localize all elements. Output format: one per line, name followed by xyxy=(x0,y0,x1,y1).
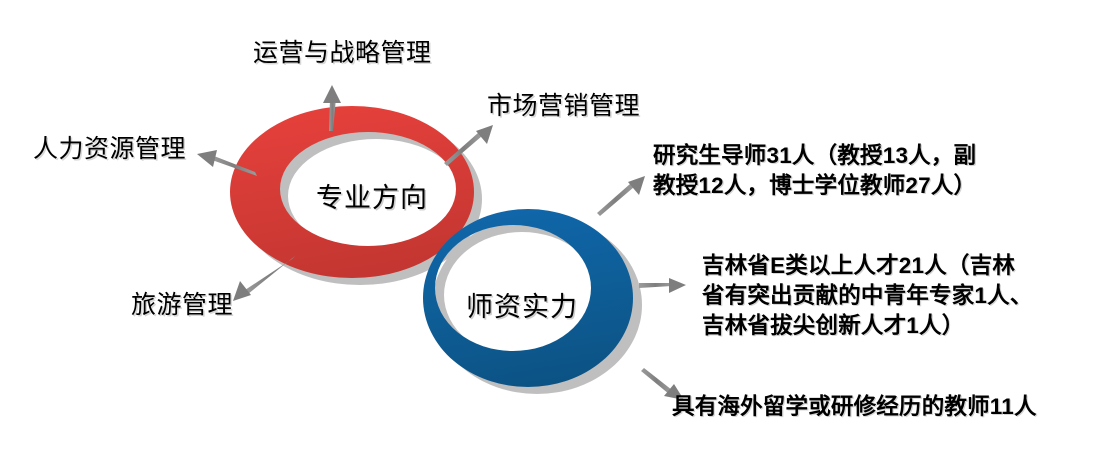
ring-center-label-major-direction: 专业方向 xyxy=(316,176,428,215)
fact-overseas-experience: 具有海外留学或研修经历的教师11人 xyxy=(672,392,1037,422)
fact-line: 吉林省拔尖创新人才1人） xyxy=(702,311,1033,341)
fact-line: 吉林省E类以上人才21人（吉林 xyxy=(702,251,1033,281)
fact-line: 具有海外留学或研修经历的教师11人 xyxy=(672,392,1037,422)
fact-line: 省有突出贡献的中青年专家1人、 xyxy=(702,281,1033,311)
spoke-label-marketing: 市场营销管理 xyxy=(487,93,640,122)
ring-faculty-strength[interactable] xyxy=(0,0,1115,453)
spoke-label-operations-strategy: 运营与战略管理 xyxy=(253,40,432,69)
spoke-label-human-resources: 人力资源管理 xyxy=(33,136,186,165)
fact-graduate-supervisors: 研究生导师31人（教授13人，副 教授12人，博士学位教师27人） xyxy=(653,141,976,201)
fact-line: 教授12人，博士学位教师27人） xyxy=(653,171,976,201)
diagram-graphics xyxy=(0,0,1115,453)
slide-canvas: 专业方向 师资实力 运营与战略管理 人力资源管理 市场营销管理 旅游管理 研究生… xyxy=(0,0,1115,453)
ring-center-label-faculty-strength: 师资实力 xyxy=(466,285,578,324)
fact-line: 研究生导师31人（教授13人，副 xyxy=(653,141,976,171)
spoke-label-tourism: 旅游管理 xyxy=(131,292,233,321)
fact-jilin-talents: 吉林省E类以上人才21人（吉林 省有突出贡献的中青年专家1人、 吉林省拔尖创新人… xyxy=(702,251,1033,341)
